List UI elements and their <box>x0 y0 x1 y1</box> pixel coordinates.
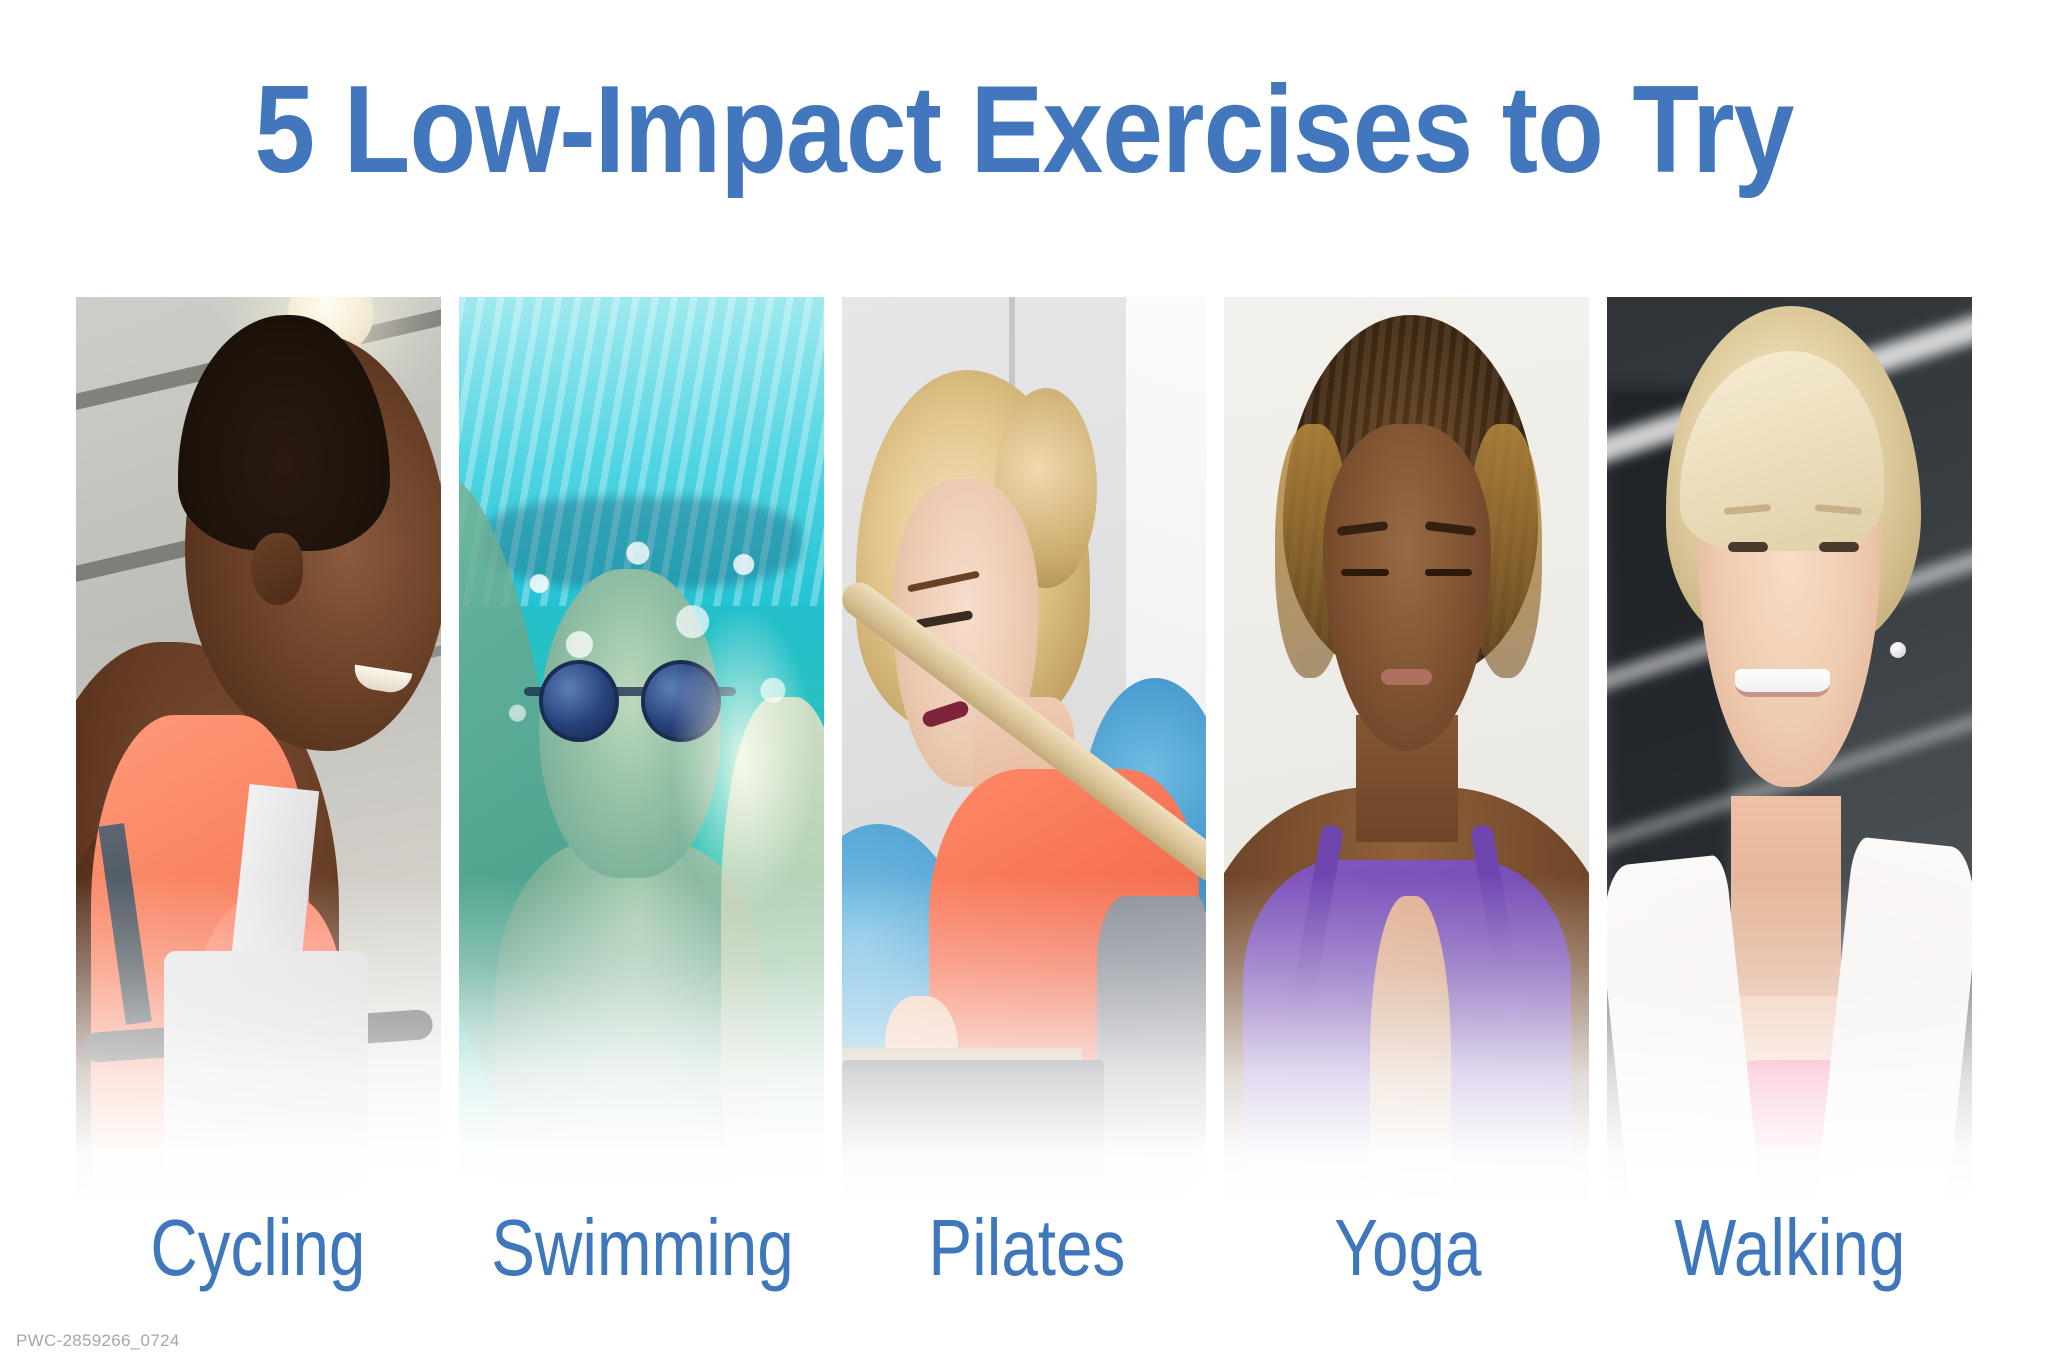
grey-leggings <box>1097 896 1206 1150</box>
bike-console <box>164 951 368 1187</box>
exercise-card-walking <box>1607 297 1972 1205</box>
swimming-photo <box>459 297 824 1205</box>
document-reference-code: PWC-2859266_0724 <box>16 1331 180 1351</box>
exercise-label-yoga: Yoga <box>1259 1196 1557 1306</box>
yoga-lips <box>1381 669 1432 685</box>
prayer-hands <box>1370 896 1450 1205</box>
exercise-card-swimming <box>459 297 824 1205</box>
page-title: 5 Low-Impact Exercises to Try <box>123 68 1925 192</box>
yoga-closed-eye-left <box>1341 569 1388 576</box>
cycling-photo <box>76 297 441 1205</box>
walking-neck <box>1731 796 1840 996</box>
poster-canvas: 5 Low-Impact Exercises to Try <box>0 0 2048 1365</box>
exercise-image-strip <box>76 297 1972 1205</box>
water-light-glint <box>670 606 816 915</box>
yoga-photo <box>1224 297 1589 1205</box>
pilates-photo <box>842 297 1207 1205</box>
walking-eye-right <box>1819 542 1859 552</box>
water-lower-light <box>459 969 824 1205</box>
exercise-label-swimming: Swimming <box>491 1196 794 1306</box>
exercise-card-pilates <box>842 297 1207 1205</box>
exercise-card-yoga <box>1224 297 1589 1205</box>
exercise-label-pilates: Pilates <box>877 1196 1175 1306</box>
stud-earring <box>1890 642 1906 658</box>
exercise-label-walking: Walking <box>1641 1196 1939 1306</box>
walking-photo <box>1607 297 1972 1205</box>
reformer-wood-frame <box>842 1048 1083 1060</box>
exercise-card-cycling <box>76 297 441 1205</box>
exercise-label-row: Cycling Swimming Pilates Yoga Walking <box>76 1196 1972 1306</box>
walking-eye-left <box>1728 542 1768 552</box>
cyclist-ear <box>251 533 303 605</box>
yoga-face <box>1323 424 1491 751</box>
reformer-bench <box>842 1060 1105 1205</box>
exercise-label-cycling: Cycling <box>109 1196 407 1306</box>
walking-smile <box>1735 669 1830 697</box>
yoga-closed-eye-right <box>1425 569 1472 576</box>
